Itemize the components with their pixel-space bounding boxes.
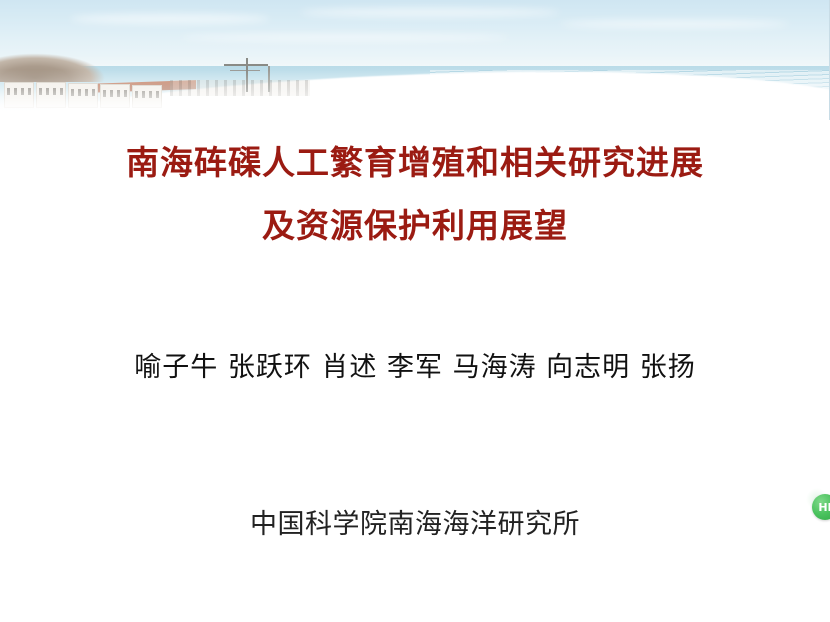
building xyxy=(68,83,98,108)
harbour-structures xyxy=(170,80,310,96)
header-banner-image xyxy=(0,0,830,120)
slide-title: 南海砗磲人工繁育增殖和相关研究进展 及资源保护利用展望 xyxy=(0,131,830,257)
building xyxy=(36,82,66,108)
crane-jib-icon xyxy=(230,70,260,71)
cloud-shape xyxy=(70,14,270,24)
building xyxy=(100,84,130,108)
crane-mast-icon xyxy=(268,66,270,92)
cloud-shape xyxy=(180,34,510,41)
title-line-2: 及资源保护利用展望 xyxy=(0,194,830,257)
building xyxy=(132,85,162,108)
shoreline-buildings xyxy=(4,78,174,108)
crane-mast-icon xyxy=(246,58,248,92)
coastal-hill xyxy=(0,46,130,82)
title-line-1: 南海砗磲人工繁育增殖和相关研究进展 xyxy=(0,131,830,194)
building xyxy=(4,82,34,108)
institution-name: 中国科学院南海海洋研究所 xyxy=(0,506,830,544)
cloud-shape xyxy=(560,20,790,28)
author-list: 喻子牛 张跃环 肖述 李军 马海涛 向志明 张扬 xyxy=(0,349,830,387)
badge-label: HI xyxy=(818,502,830,513)
presentation-slide: 南海砗磲人工繁育增殖和相关研究进展 及资源保护利用展望 喻子牛 张跃环 肖述 李… xyxy=(0,0,830,622)
cloud-shape xyxy=(300,8,560,17)
